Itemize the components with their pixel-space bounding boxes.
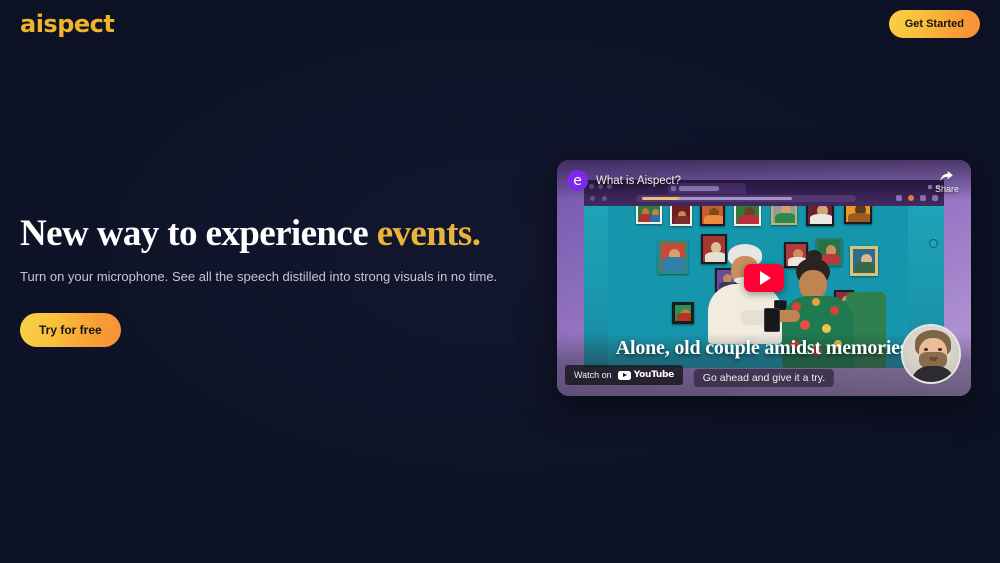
portrait-frame	[672, 302, 694, 324]
share-label: Share	[935, 184, 959, 194]
video-top-bar: e What is Aispect? Share	[557, 160, 971, 200]
play-button[interactable]	[744, 264, 784, 292]
portrait-frame	[658, 240, 688, 274]
settings-icon	[929, 239, 938, 248]
presenter-webcam	[901, 324, 961, 384]
youtube-wordmark: YouTube	[634, 370, 674, 380]
share-arrow-icon	[939, 170, 954, 183]
portrait-frame	[636, 206, 662, 224]
watch-on-youtube-button[interactable]: Watch on YouTube	[565, 365, 683, 385]
portrait-frame	[670, 206, 692, 226]
get-started-button[interactable]: Get Started	[889, 10, 980, 38]
share-button[interactable]: Share	[935, 170, 959, 194]
channel-avatar[interactable]: e	[567, 170, 588, 191]
portrait-frame	[734, 206, 761, 226]
video-subtitle-overlay: Go ahead and give it a try.	[694, 369, 834, 387]
portrait-frame	[771, 206, 797, 225]
portrait-frame	[844, 206, 872, 224]
hero-title-accent: events.	[377, 213, 481, 254]
page-title: New way to experience events.	[20, 214, 490, 254]
portrait-frame	[806, 206, 834, 226]
youtube-logo-icon: YouTube	[618, 370, 674, 380]
watch-on-label: Watch on	[574, 370, 612, 380]
youtube-embed-card[interactable]: e What is Aispect? Share Alone, old coup…	[557, 160, 971, 396]
hero-subtitle: Turn on your microphone. See all the spe…	[20, 268, 490, 287]
hero-title-lead: New way to experience	[20, 213, 377, 254]
brand-logo[interactable]: aispect	[20, 12, 114, 36]
site-header: aispect Get Started	[0, 0, 1000, 48]
video-title[interactable]: What is Aispect?	[596, 175, 681, 187]
try-for-free-button[interactable]: Try for free	[20, 313, 121, 347]
portrait-frame	[700, 206, 725, 226]
hero-section: New way to experience events. Turn on yo…	[20, 214, 490, 347]
